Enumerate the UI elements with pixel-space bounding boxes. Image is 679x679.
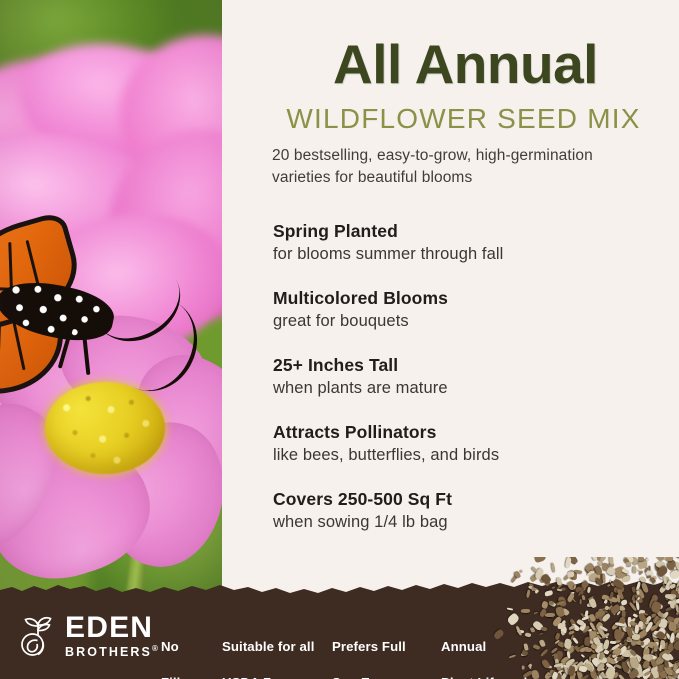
- feature-subtitle: for blooms summer through fall: [273, 245, 663, 264]
- eden-brothers-logo[interactable]: EDEN BROTHERS®: [18, 613, 158, 659]
- feature-title: Attracts Pollinators: [273, 422, 663, 443]
- logo-wordmark: EDEN BROTHERS®: [65, 613, 158, 659]
- badge-line2: Sun Exposure: [332, 674, 422, 679]
- seed-pile: [504, 557, 679, 679]
- logo-brothers-text: BROTHERS: [65, 645, 152, 659]
- badge-line1: No: [161, 638, 201, 656]
- registered-trademark-icon: ®: [152, 644, 158, 653]
- logo-secondary-text: BROTHERS®: [65, 645, 158, 659]
- badge-usda-zones: Suitable for all USDA Zones: [222, 620, 314, 679]
- monarch-butterfly: [0, 225, 168, 405]
- product-subtitle: WILDFLOWER SEED MIX: [262, 103, 665, 135]
- feature-item: 25+ Inches Tall when plants are mature: [273, 355, 663, 398]
- feature-subtitle: great for bouquets: [273, 312, 663, 331]
- feature-item: Covers 250-500 Sq Ft when sowing 1/4 lb …: [273, 489, 663, 532]
- feature-item: Attracts Pollinators like bees, butterfl…: [273, 422, 663, 465]
- feature-title: 25+ Inches Tall: [273, 355, 663, 376]
- product-description: 20 bestselling, easy-to-grow, high-germi…: [272, 145, 653, 189]
- logo-primary-text: EDEN: [65, 613, 158, 643]
- badge-line1: Prefers Full: [332, 638, 422, 656]
- feature-subtitle: when sowing 1/4 lb bag: [273, 513, 663, 532]
- product-info-card: All Annual WILDFLOWER SEED MIX 20 bestse…: [0, 0, 679, 679]
- footer-band: EDEN BROTHERS® No Fillers Suitable for a…: [0, 597, 679, 679]
- badge-line1: Suitable for all: [222, 638, 314, 656]
- feature-item: Spring Planted for blooms summer through…: [273, 221, 663, 264]
- feature-title: Multicolored Blooms: [273, 288, 663, 309]
- badge-line2: Fillers: [161, 674, 201, 679]
- feature-subtitle: when plants are mature: [273, 379, 663, 398]
- product-title: All Annual: [272, 35, 659, 93]
- feature-subtitle: like bees, butterflies, and birds: [273, 446, 663, 465]
- flower-photo: [0, 0, 222, 612]
- seedling-sprout-icon: [18, 613, 58, 659]
- badge-no-fillers: No Fillers: [161, 620, 201, 679]
- feature-title: Covers 250-500 Sq Ft: [273, 489, 663, 510]
- feature-title: Spring Planted: [273, 221, 663, 242]
- badge-line2: USDA Zones: [222, 674, 314, 679]
- badge-sun-exposure: Prefers Full Sun Exposure: [332, 620, 422, 679]
- feature-item: Multicolored Blooms great for bouquets: [273, 288, 663, 331]
